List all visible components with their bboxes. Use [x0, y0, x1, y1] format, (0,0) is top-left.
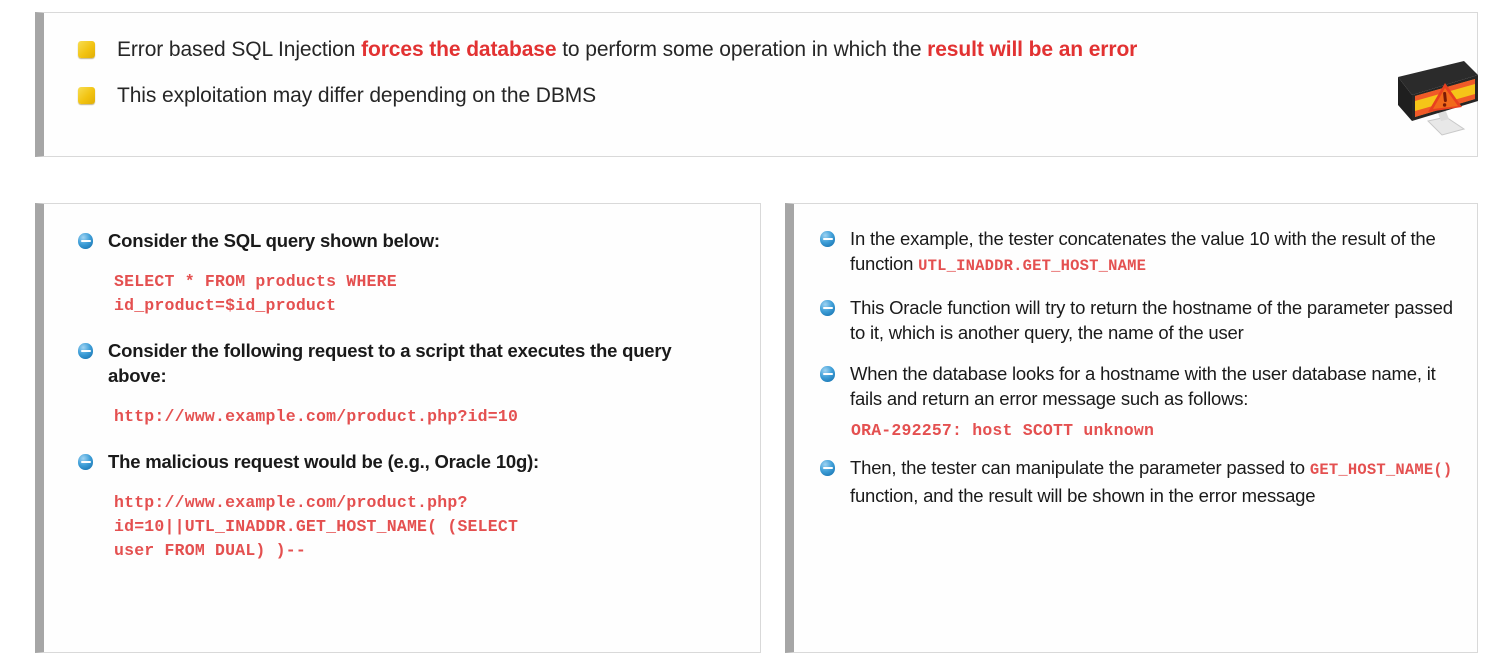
left-content-panel: Consider the SQL query shown below: SELE…: [35, 203, 761, 653]
code-block-sql-query: SELECT * FROM products WHERE id_product=…: [114, 270, 740, 318]
list-item-label: Consider the SQL query shown below:: [108, 228, 440, 253]
yellow-square-bullet-icon: [78, 87, 95, 104]
banner-bullet-item: This exploitation may differ depending o…: [44, 81, 1477, 111]
banner-bullet-text: This exploitation may differ depending o…: [117, 81, 596, 111]
banner-text-seg-plain-2: to perform some operation in which the: [556, 38, 927, 61]
list-item-label: This Oracle function will try to return …: [850, 295, 1459, 345]
banner-text-seg-plain: Error based SQL Injection: [117, 38, 361, 61]
banner-text-seg-emphasis-2: result will be an error: [927, 38, 1137, 61]
list-item-text-seg: Then, the tester can manipulate the para…: [850, 457, 1310, 478]
list-item-label: Consider the following request to a scri…: [108, 338, 708, 388]
list-item-label: When the database looks for a hostname w…: [850, 361, 1459, 411]
list-item: Consider the following request to a scri…: [78, 338, 740, 388]
monitor-warning-icon: [1390, 55, 1486, 147]
blue-minus-bullet-icon: [820, 300, 835, 316]
banner-panel: Error based SQL Injection forces the dat…: [35, 12, 1478, 157]
list-item-label: The malicious request would be (e.g., Or…: [108, 449, 539, 474]
list-item: When the database looks for a hostname w…: [820, 361, 1459, 411]
blue-minus-bullet-icon: [820, 460, 835, 476]
list-item: The malicious request would be (e.g., Or…: [78, 449, 740, 474]
list-item-label: Then, the tester can manipulate the para…: [850, 455, 1459, 508]
banner-bullet-text: Error based SQL Injection forces the dat…: [117, 35, 1137, 65]
right-content-panel: In the example, the tester concatenates …: [785, 203, 1478, 653]
list-item-text-seg-2: function, and the result will be shown i…: [850, 485, 1315, 506]
inline-code-get-host-name: GET_HOST_NAME(): [1310, 461, 1453, 479]
banner-bullet-item: Error based SQL Injection forces the dat…: [44, 35, 1477, 65]
yellow-square-bullet-icon: [78, 41, 95, 58]
blue-minus-bullet-icon: [78, 233, 93, 249]
code-block-ora-error: ORA-292257: host SCOTT unknown: [851, 419, 1459, 443]
code-block-malicious-request: http://www.example.com/product.php? id=1…: [114, 491, 740, 563]
blue-minus-bullet-icon: [78, 454, 93, 470]
banner-text-seg-emphasis: forces the database: [361, 38, 556, 61]
blue-minus-bullet-icon: [820, 366, 835, 382]
list-item: Then, the tester can manipulate the para…: [820, 455, 1459, 508]
blue-minus-bullet-icon: [78, 343, 93, 359]
list-item-label: In the example, the tester concatenates …: [850, 226, 1459, 279]
code-block-request-url: http://www.example.com/product.php?id=10: [114, 405, 740, 429]
inline-code-utl-inaddr: UTL_INADDR.GET_HOST_NAME: [918, 257, 1146, 275]
list-item: This Oracle function will try to return …: [820, 295, 1459, 345]
blue-minus-bullet-icon: [820, 231, 835, 247]
list-item: Consider the SQL query shown below:: [78, 228, 740, 253]
list-item: In the example, the tester concatenates …: [820, 226, 1459, 279]
